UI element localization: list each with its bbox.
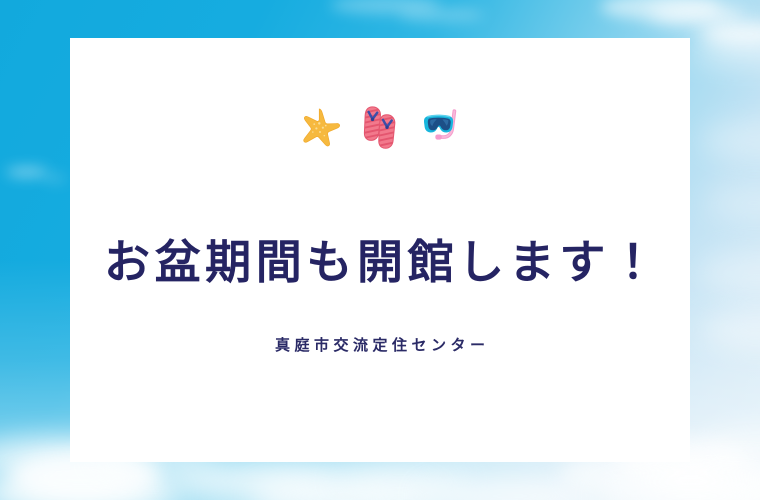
poster-canvas: お盆期間も開館します！ 真庭市交流定住センター bbox=[0, 0, 760, 500]
decoration-row bbox=[70, 96, 690, 158]
organization-name: 真庭市交流定住センター bbox=[70, 334, 690, 355]
flip-flops-icon bbox=[357, 104, 403, 150]
page-title: お盆期間も開館します！ bbox=[70, 235, 690, 289]
announcement-card: お盆期間も開館します！ 真庭市交流定住センター bbox=[70, 38, 690, 462]
starfish-icon bbox=[297, 104, 343, 150]
diving-mask-icon bbox=[417, 104, 463, 150]
